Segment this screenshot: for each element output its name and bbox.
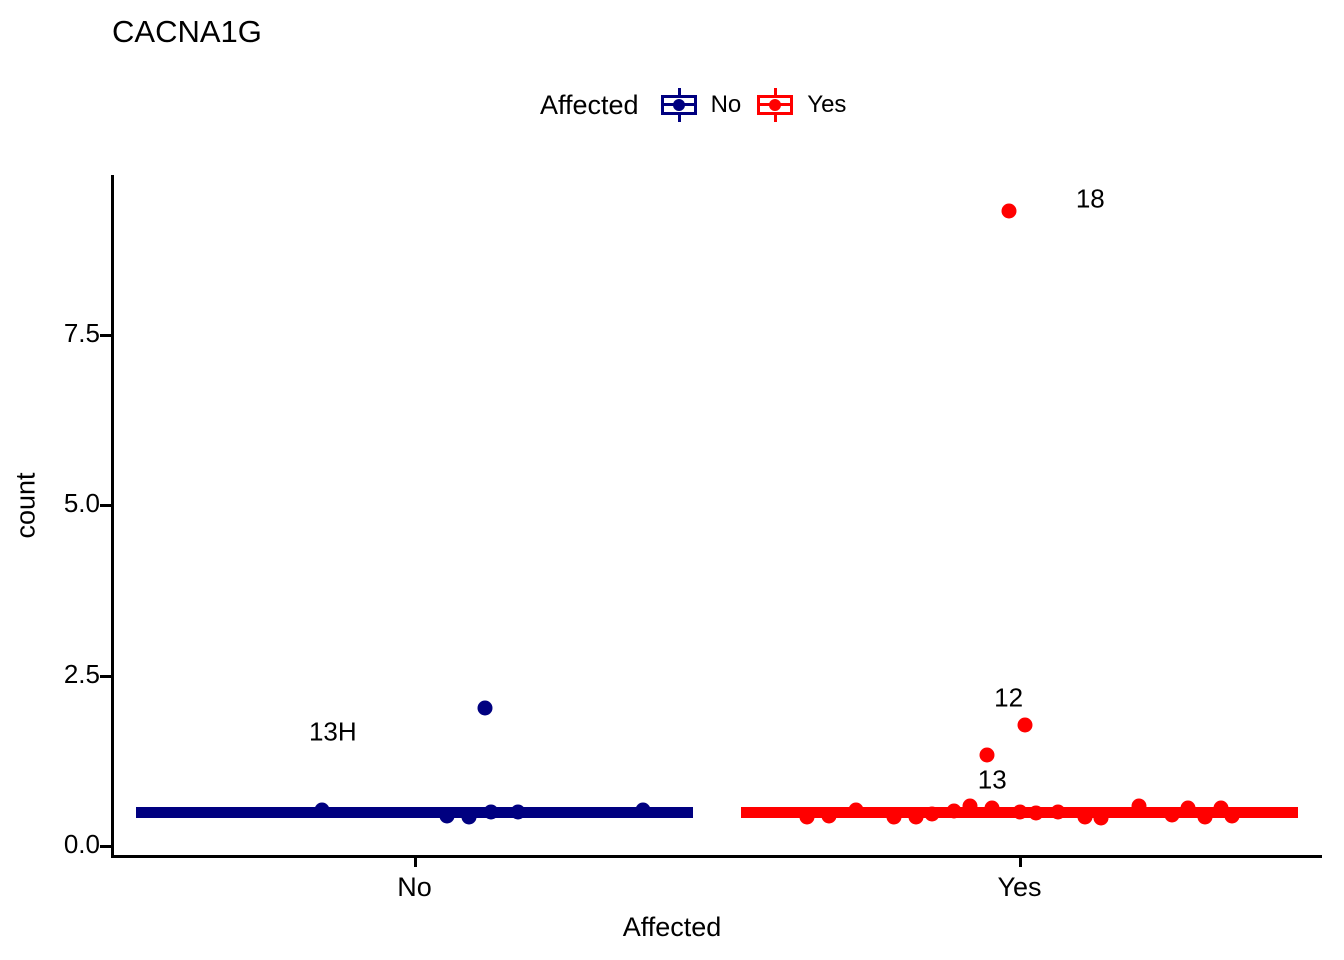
data-point [314,803,329,818]
x-axis-tick [414,856,417,867]
data-point [909,810,924,825]
x-axis-tick-label-yes: Yes [997,872,1041,903]
data-point [1017,717,1032,732]
point-annotation: 12 [994,683,1023,714]
data-point [483,805,498,820]
data-point [1050,805,1065,820]
data-point [985,801,1000,816]
data-point [1001,204,1016,219]
data-point [925,806,940,821]
data-point [1164,808,1179,823]
data-point [1094,810,1109,825]
data-point [636,803,651,818]
data-point [979,748,994,763]
data-point [887,809,902,824]
data-point [1224,808,1239,823]
data-point [1012,804,1027,819]
y-axis-tick [100,504,111,507]
boxplot-figure: CACNA1G Affected No Yes 0.02.55.07.5 [0,0,1344,960]
data-point [821,808,836,823]
data-point [1197,809,1212,824]
point-annotation: 13H [309,717,357,748]
legend-title: Affected [540,90,639,121]
boxplot-key-icon [659,88,699,122]
data-point [1077,809,1092,824]
boxplot-key-icon [755,88,795,122]
plot-panel: 13H121318 [112,175,1322,856]
point-annotation: 13 [978,764,1007,795]
data-point [461,810,476,825]
x-axis-tick [1019,856,1022,867]
y-axis-title: count [11,436,42,576]
data-point [478,700,493,715]
y-axis-tick-label: 2.5 [0,659,100,690]
legend-label-yes: Yes [807,91,846,119]
y-axis-tick [100,845,111,848]
data-point [1181,801,1196,816]
chart-legend: Affected No Yes [540,88,846,122]
y-axis-tick-label: 0.0 [0,829,100,860]
y-axis-tick-label: 7.5 [0,318,100,349]
y-axis-tick [100,675,111,678]
x-axis-tick-label-no: No [397,872,432,903]
data-point [800,810,815,825]
data-point [1132,799,1147,814]
data-point [963,799,978,814]
data-point [849,802,864,817]
data-point [440,808,455,823]
legend-item-no[interactable]: No [659,88,742,122]
x-axis-title: Affected [0,912,1344,943]
legend-item-yes[interactable]: Yes [755,88,846,122]
data-point [947,804,962,819]
boxplot-box-no [136,807,693,818]
data-point [1028,806,1043,821]
point-annotation: 18 [1076,183,1105,214]
y-axis-tick [100,334,111,337]
page-title: CACNA1G [112,14,262,50]
data-point [510,804,525,819]
legend-label-no: No [711,91,742,119]
